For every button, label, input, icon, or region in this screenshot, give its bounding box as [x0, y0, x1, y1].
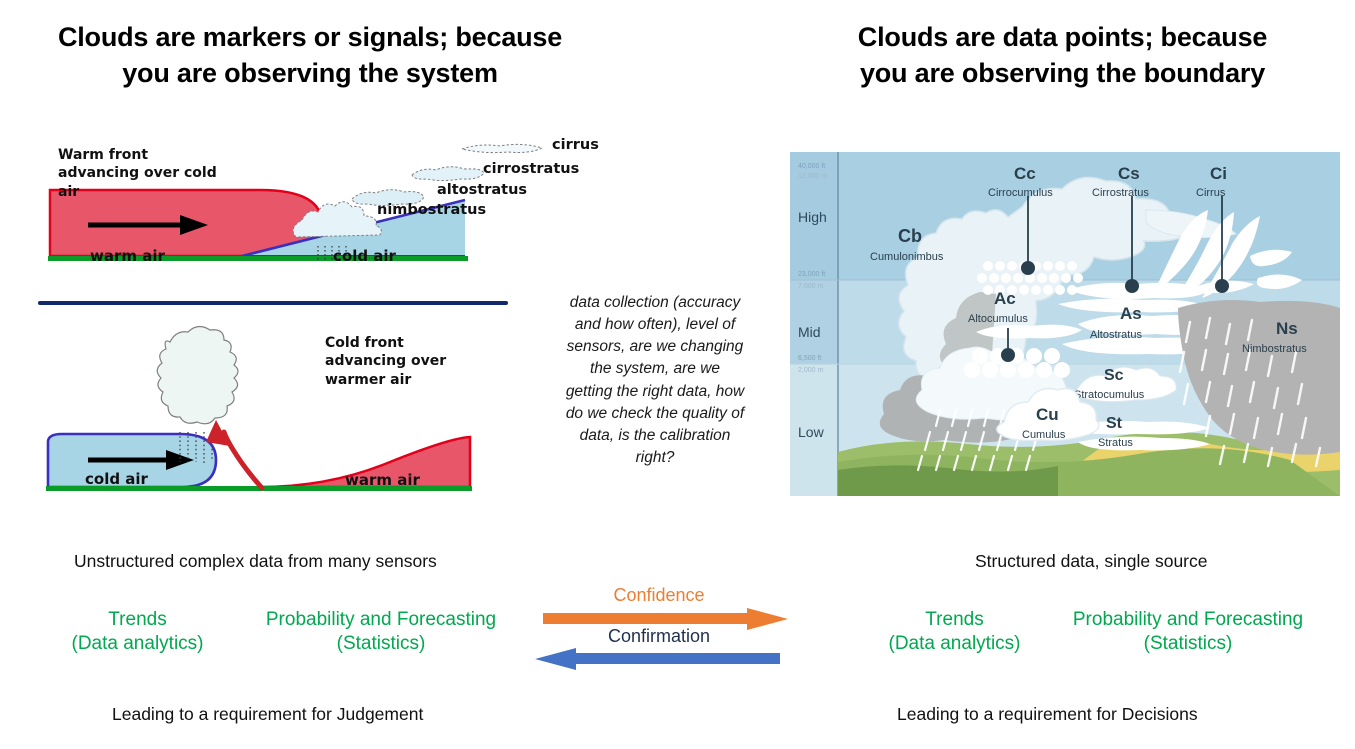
altitude-low-ft: 6,500 ft — [798, 355, 821, 362]
cloud-name-cb: Cumulonimbus — [870, 251, 944, 263]
left-outcome: Leading to a requirement for Judgement — [112, 704, 423, 725]
right-data-description: Structured data, single source — [975, 551, 1208, 572]
cirrostratus-cloud — [412, 167, 484, 181]
confidence-label: Confidence — [539, 585, 779, 606]
right-probability-line2: (Statistics) — [1032, 632, 1344, 656]
cloud-name-as: Altostratus — [1090, 329, 1142, 341]
left-trends-line1: Trends — [60, 608, 215, 632]
page-title-left-line2: you are observing the system — [0, 56, 620, 92]
cloud-name-st: Stratus — [1098, 437, 1133, 449]
right-trends-heading: Trends (Data analytics) — [877, 608, 1032, 656]
cloud-name-ac: Altocumulus — [968, 313, 1028, 325]
section-divider — [38, 301, 508, 305]
cloud-abbr-as: As — [1120, 304, 1142, 323]
cold-air-label-bottom: cold air — [85, 470, 148, 488]
warm-air-label-bottom: warm air — [345, 471, 420, 489]
cloud-abbr-ci: Ci — [1210, 164, 1227, 183]
label-cirrostratus: cirrostratus — [483, 161, 579, 177]
cloud-name-cc: Cirrocumulus — [988, 187, 1053, 199]
cloud-abbr-cs: Cs — [1118, 164, 1140, 183]
altitude-low-m: 2,000 m — [798, 367, 823, 374]
cloud-name-cs: Cirrostratus — [1092, 187, 1149, 199]
cold-air-label-top: cold air — [333, 247, 396, 265]
cloud-abbr-ac: Ac — [994, 289, 1016, 308]
cold-front-caption: Cold front advancing over warmer air — [325, 334, 475, 389]
page-title-right: Clouds are data points; because you are … — [770, 20, 1355, 92]
right-trends-line1: Trends — [877, 608, 1032, 632]
label-cirrus: cirrus — [552, 137, 599, 153]
confirmation-label: Confirmation — [539, 626, 779, 647]
cloud-abbr-ns: Ns — [1276, 319, 1298, 338]
altitude-band-mid: Mid — [798, 324, 821, 340]
warm-air-label-top: warm air — [90, 247, 165, 265]
warm-front-caption: Warm front advancing over cold air — [58, 146, 218, 201]
page-title-left-line1: Clouds are markers or signals; because — [0, 20, 620, 56]
cloud-classification-figure: 40,000 ft 12,000 m High 23,000 ft 7,000 … — [790, 152, 1340, 496]
page-title-right-line1: Clouds are data points; because — [770, 20, 1355, 56]
right-trends-line2: (Data analytics) — [877, 632, 1032, 656]
label-altostratus: altostratus — [437, 182, 527, 198]
altitude-high-m: 12,000 m — [798, 173, 827, 180]
left-trends-heading: Trends (Data analytics) — [60, 608, 215, 656]
page-title-right-line2: you are observing the boundary — [770, 56, 1355, 92]
altitude-mid-m: 7,000 m — [798, 283, 823, 290]
cloud-name-cu: Cumulus — [1022, 429, 1066, 441]
right-probability-line1: Probability and Forecasting — [1032, 608, 1344, 632]
altitude-band-low: Low — [798, 424, 825, 440]
label-nimbostratus: nimbostratus — [377, 202, 486, 218]
altitude-high-ft: 40,000 ft — [798, 163, 825, 170]
left-probability-line1: Probability and Forecasting — [225, 608, 537, 632]
cloud-abbr-cb: Cb — [898, 226, 922, 246]
altitude-mid-ft: 23,000 ft — [798, 271, 825, 278]
data-collection-note: data collection (accuracy and how often)… — [565, 292, 745, 469]
left-probability-line2: (Statistics) — [225, 632, 537, 656]
cloud-abbr-sc: Sc — [1104, 367, 1124, 384]
right-outcome: Leading to a requirement for Decisions — [897, 704, 1198, 725]
cloud-abbr-cc: Cc — [1014, 164, 1036, 183]
confirmation-arrow-left — [535, 648, 780, 675]
left-data-description: Unstructured complex data from many sens… — [74, 551, 437, 572]
cloud-name-ns: Nimbostratus — [1242, 343, 1307, 355]
cloud-abbr-cu: Cu — [1036, 405, 1059, 424]
left-trends-line2: (Data analytics) — [60, 632, 215, 656]
altitude-band-high: High — [798, 209, 827, 225]
cloud-name-ci: Cirrus — [1196, 187, 1226, 199]
cloud-name-sc: Stratocumulus — [1074, 389, 1145, 401]
right-probability-heading: Probability and Forecasting (Statistics) — [1032, 608, 1344, 656]
cloud-abbr-st: St — [1106, 415, 1123, 432]
left-probability-heading: Probability and Forecasting (Statistics) — [225, 608, 537, 656]
page-title-left: Clouds are markers or signals; because y… — [0, 20, 620, 92]
cirrus-cloud — [462, 144, 542, 152]
